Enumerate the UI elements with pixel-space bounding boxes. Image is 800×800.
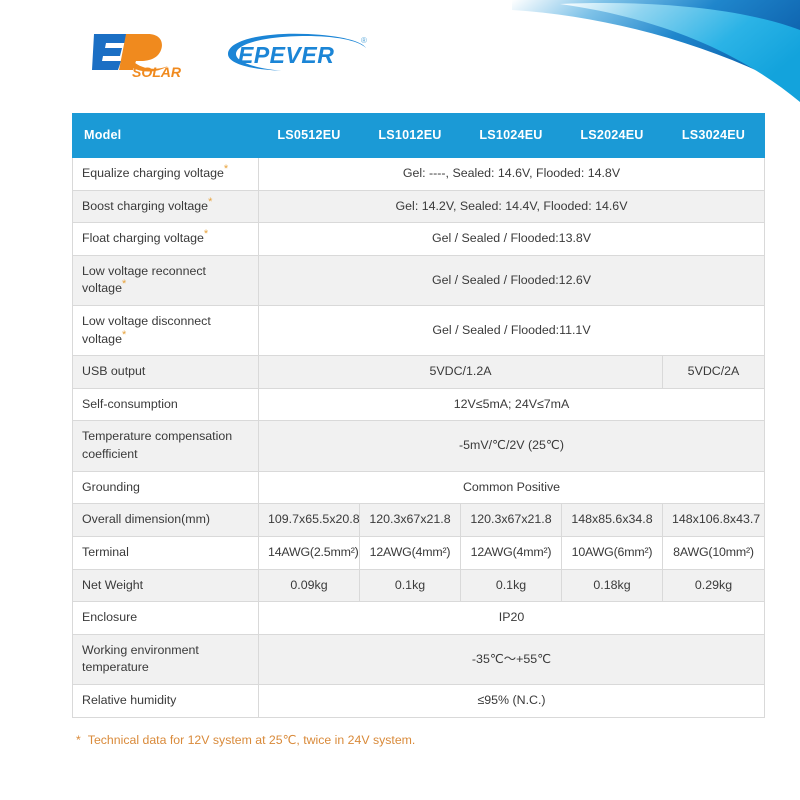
epsolar-logo: SOLAR (92, 28, 200, 80)
row-value-0: 0.09kg (259, 569, 360, 602)
row-value-3: 10AWG(6mm²) (562, 536, 663, 569)
row-label: Equalize charging voltage* (73, 158, 259, 191)
registered-trademark-icon: ® (361, 36, 367, 45)
table-row: Equalize charging voltage*Gel: ----, Sea… (73, 158, 765, 191)
column-header-model-0: LS0512EU (259, 114, 360, 158)
table-header-row: Model LS0512EU LS1012EU LS1024EU LS2024E… (73, 114, 765, 158)
row-label: Self-consumption (73, 388, 259, 421)
table-row: Low voltage disconnect voltage*Gel / Sea… (73, 306, 765, 356)
table-row: Overall dimension(mm)109.7x65.5x20.8120.… (73, 504, 765, 537)
row-value-2: 12AWG(4mm²) (461, 536, 562, 569)
row-value-2: 0.1kg (461, 569, 562, 602)
column-header-model-1: LS1012EU (360, 114, 461, 158)
epever-logo: EPEVER ® (216, 31, 376, 77)
column-header-model-4: LS3024EU (663, 114, 765, 158)
row-label: Overall dimension(mm) (73, 504, 259, 537)
row-value-3: 0.18kg (562, 569, 663, 602)
row-label: Net Weight (73, 569, 259, 602)
table-row: Low voltage reconnect voltage*Gel / Seal… (73, 255, 765, 305)
row-value-2: 120.3x67x21.8 (461, 504, 562, 537)
required-asterisk-icon: * (224, 163, 228, 175)
row-value-last: 5VDC/2A (663, 356, 765, 389)
row-value-1: 0.1kg (360, 569, 461, 602)
table-row: Temperature compensation coefficient-5mV… (73, 421, 765, 471)
row-value-merged: Gel / Sealed / Flooded:13.8V (259, 223, 765, 256)
column-header-model-2: LS1024EU (461, 114, 562, 158)
table-row: GroundingCommon Positive (73, 471, 765, 504)
row-value-merged: Gel: ----, Sealed: 14.6V, Flooded: 14.8V (259, 158, 765, 191)
row-label: Terminal (73, 536, 259, 569)
table-row: EnclosureIP20 (73, 602, 765, 635)
row-label: Grounding (73, 471, 259, 504)
row-value-0: 109.7x65.5x20.8 (259, 504, 360, 537)
row-value-merged: IP20 (259, 602, 765, 635)
row-value-merged: Gel / Sealed / Flooded:11.1V (259, 306, 765, 356)
row-value-merged: Common Positive (259, 471, 765, 504)
row-label: Relative humidity (73, 684, 259, 717)
table-row: Boost charging voltage*Gel: 14.2V, Seale… (73, 190, 765, 223)
swoosh-light (560, 3, 800, 102)
table-row: USB output5VDC/1.2A5VDC/2A (73, 356, 765, 389)
required-asterisk-icon: * (208, 195, 212, 207)
swoosh-dark (512, 0, 800, 92)
required-asterisk-icon: * (122, 329, 126, 341)
row-value-merged: -5mV/℃/2V (25℃) (259, 421, 765, 471)
row-value-4: 0.29kg (663, 569, 765, 602)
row-value-0: 14AWG(2.5mm²) (259, 536, 360, 569)
epsolar-wordmark: SOLAR (132, 64, 182, 80)
row-value-merged: 12V≤5mA; 24V≤7mA (259, 388, 765, 421)
row-value-3: 148x85.6x34.8 (562, 504, 663, 537)
row-value-merged: ≤95% (N.C.) (259, 684, 765, 717)
table-row: Working environment temperature-35℃～+55℃ (73, 634, 765, 684)
specification-table: Model LS0512EU LS1012EU LS1024EU LS2024E… (72, 113, 764, 718)
row-value-1: 120.3x67x21.8 (360, 504, 461, 537)
row-label: USB output (73, 356, 259, 389)
required-asterisk-icon: * (122, 278, 126, 290)
row-value-merged: Gel / Sealed / Flooded:12.6V (259, 255, 765, 305)
row-value-4: 8AWG(10mm²) (663, 536, 765, 569)
table-row: Terminal14AWG(2.5mm²)12AWG(4mm²)12AWG(4m… (73, 536, 765, 569)
row-value-merged: Gel: 14.2V, Sealed: 14.4V, Flooded: 14.6… (259, 190, 765, 223)
row-label: Working environment temperature (73, 634, 259, 684)
footnote: *Technical data for 12V system at 25℃, t… (76, 733, 415, 747)
column-header-model: Model (73, 114, 259, 158)
table-row: Net Weight0.09kg0.1kg0.1kg0.18kg0.29kg (73, 569, 765, 602)
row-value-1: 12AWG(4mm²) (360, 536, 461, 569)
table-row: Float charging voltage*Gel / Sealed / Fl… (73, 223, 765, 256)
footnote-asterisk-icon: * (76, 733, 81, 747)
row-label: Boost charging voltage* (73, 190, 259, 223)
epever-wordmark: EPEVER (238, 42, 334, 68)
table-row: Relative humidity≤95% (N.C.) (73, 684, 765, 717)
column-header-model-3: LS2024EU (562, 114, 663, 158)
row-value-4: 148x106.8x43.7 (663, 504, 765, 537)
logo-group: SOLAR EPEVER ® (92, 26, 376, 82)
footnote-text: Technical data for 12V system at 25℃, tw… (88, 733, 416, 747)
row-value-merged: 5VDC/1.2A (259, 356, 663, 389)
row-label: Enclosure (73, 602, 259, 635)
row-label: Float charging voltage* (73, 223, 259, 256)
row-label: Temperature compensation coefficient (73, 421, 259, 471)
required-asterisk-icon: * (204, 228, 208, 240)
row-label: Low voltage disconnect voltage* (73, 306, 259, 356)
row-label: Low voltage reconnect voltage* (73, 255, 259, 305)
row-value-merged: -35℃～+55℃ (259, 634, 765, 684)
table-row: Self-consumption12V≤5mA; 24V≤7mA (73, 388, 765, 421)
